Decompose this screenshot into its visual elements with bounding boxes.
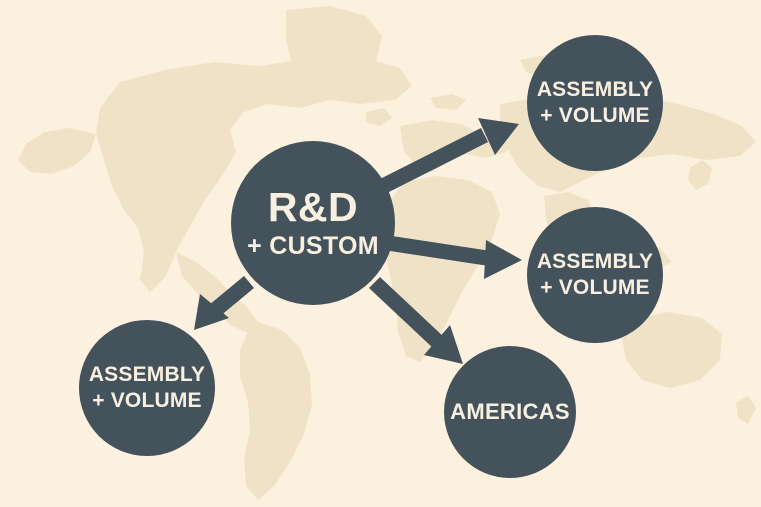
- node-assembly-volume-right-line1: ASSEMBLY: [537, 251, 653, 273]
- diagram-canvas: R&D + CUSTOM ASSEMBLY + VOLUME ASSEMBLY …: [0, 0, 761, 507]
- node-assembly-volume-right-line2: + VOLUME: [540, 277, 650, 299]
- node-americas-line1: AMERICAS: [450, 400, 570, 423]
- node-assembly-volume-top-right[interactable]: ASSEMBLY + VOLUME: [527, 35, 663, 171]
- node-assembly-volume-top-right-line2: + VOLUME: [540, 105, 650, 127]
- node-assembly-volume-bottom-left-line1: ASSEMBLY: [89, 364, 205, 386]
- node-assembly-volume-top-right-line1: ASSEMBLY: [537, 79, 653, 101]
- node-rd-custom[interactable]: R&D + CUSTOM: [231, 141, 395, 305]
- node-rd-custom-line1: R&D: [268, 186, 358, 229]
- node-assembly-volume-bottom-left[interactable]: ASSEMBLY + VOLUME: [79, 320, 215, 456]
- node-assembly-volume-bottom-left-line2: + VOLUME: [92, 390, 202, 412]
- node-rd-custom-line2: + CUSTOM: [247, 233, 379, 260]
- node-americas[interactable]: AMERICAS: [444, 346, 576, 478]
- node-layer: R&D + CUSTOM ASSEMBLY + VOLUME ASSEMBLY …: [0, 0, 761, 507]
- node-assembly-volume-right[interactable]: ASSEMBLY + VOLUME: [527, 207, 663, 343]
